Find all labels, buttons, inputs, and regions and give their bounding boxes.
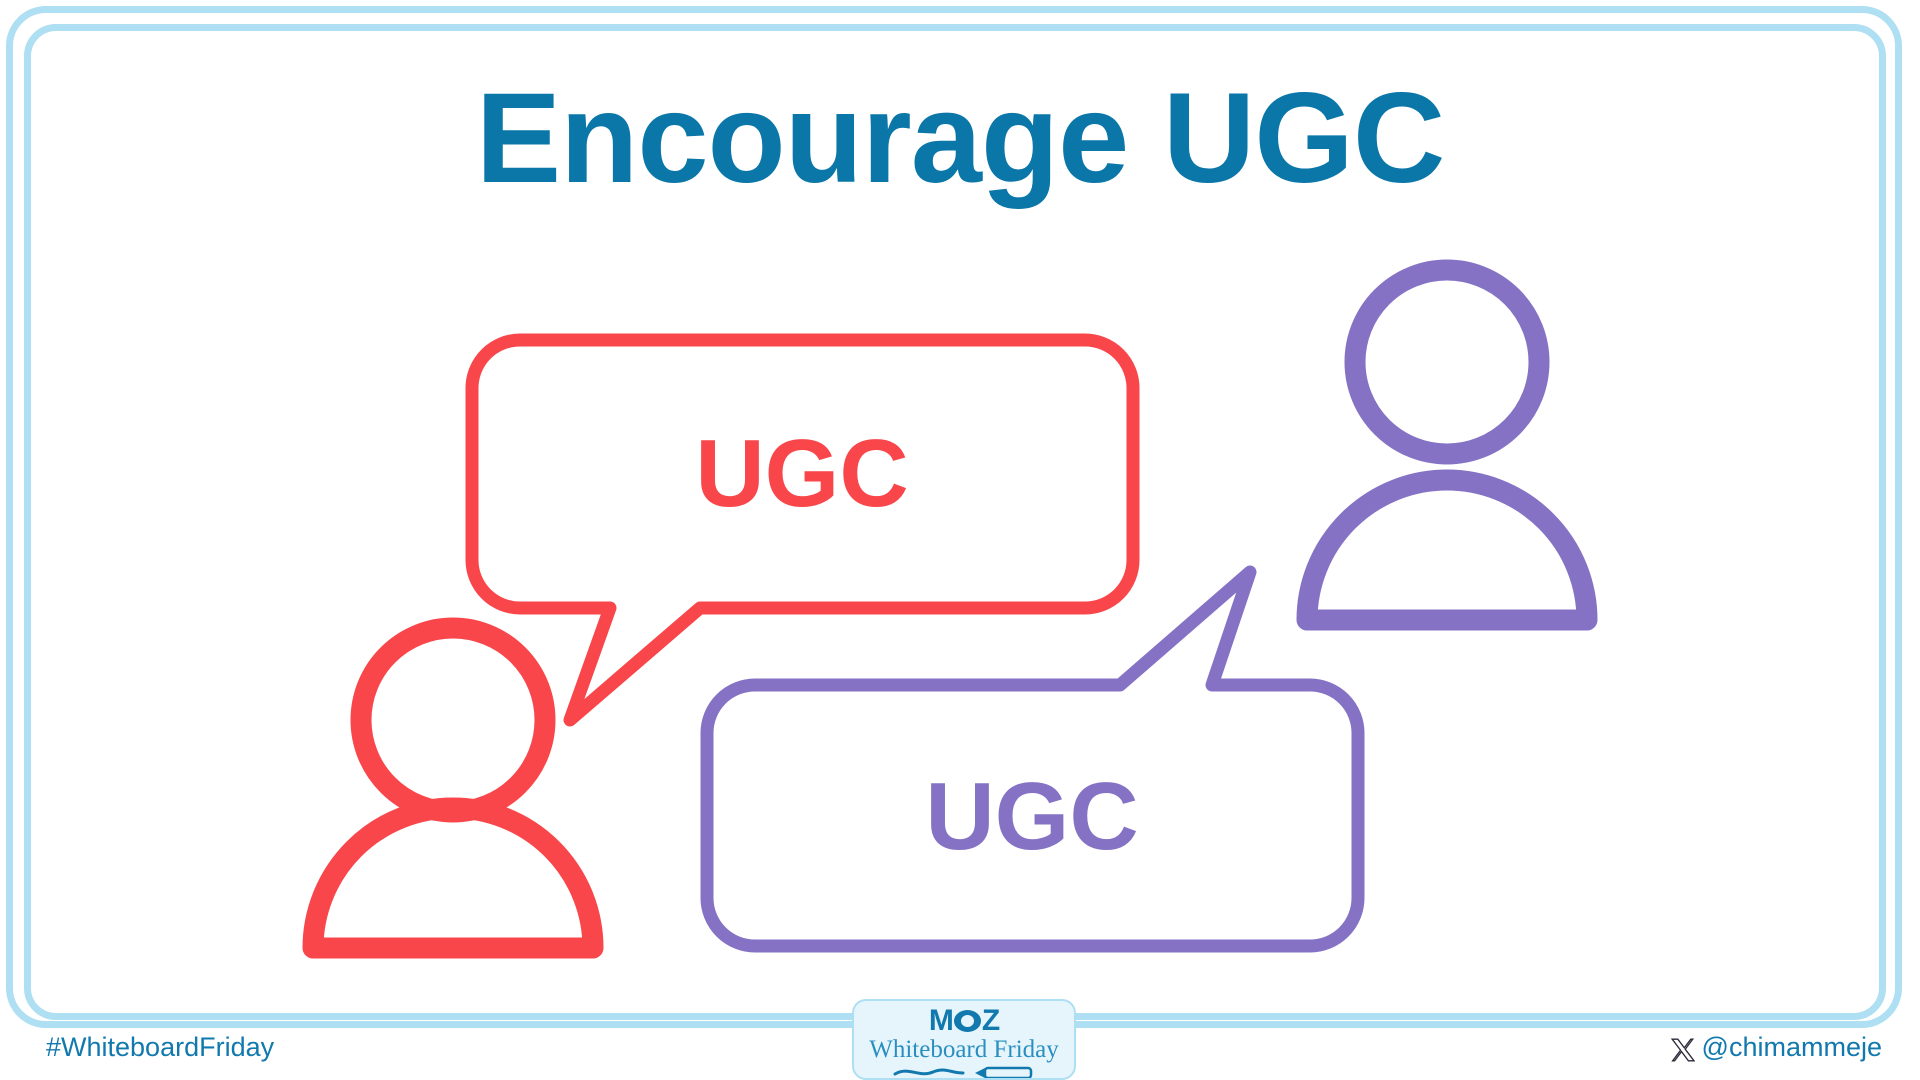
moz-badge-series-label: Whiteboard Friday (869, 1037, 1059, 1063)
page-title-space (1128, 67, 1163, 210)
moz-logo: M Z (929, 1006, 999, 1036)
footer-hashtag: #WhiteboardFriday (46, 1032, 274, 1063)
marker-pen-icon (889, 1064, 1039, 1080)
page-title: Encourage UGC (0, 75, 1920, 203)
footer-handle-text: @chimammeje (1702, 1032, 1882, 1063)
moz-logo-o (954, 1010, 981, 1032)
moz-logo-m: M (929, 1006, 953, 1036)
x-twitter-icon[interactable] (1671, 1038, 1695, 1062)
moz-whiteboard-friday-badge: M Z Whiteboard Friday (852, 999, 1076, 1080)
page-title-part-one: Encourage (476, 67, 1129, 210)
page-title-part-two: UGC (1163, 67, 1444, 210)
footer-handle-group[interactable]: @chimammeje (1671, 1032, 1882, 1063)
moz-logo-z: Z (982, 1006, 999, 1036)
